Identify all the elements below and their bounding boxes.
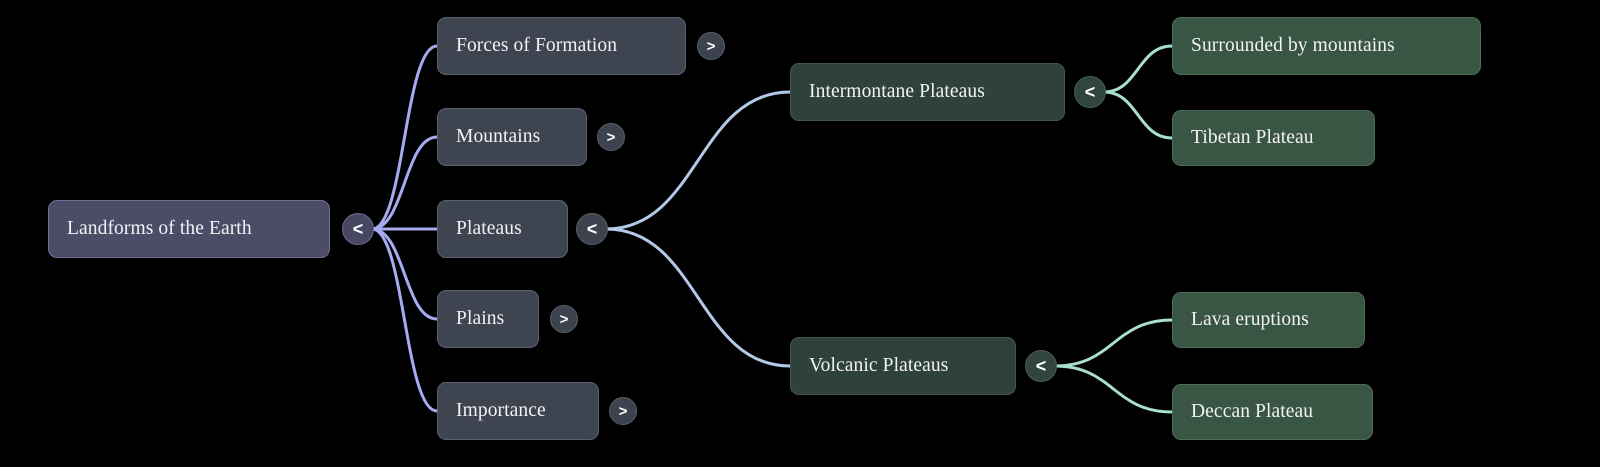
edge-plateaus-to-volcanic-plateaus <box>606 229 790 366</box>
collapse-toggle-volcanic-plateaus[interactable]: < <box>1025 350 1057 382</box>
collapse-toggle-plateaus[interactable]: < <box>576 213 608 245</box>
edge-intermontane-plateaus-to-tibetan-plateau <box>1104 92 1172 138</box>
node-level4-tibetan-plateau[interactable]: Tibetan Plateau <box>1172 110 1375 166</box>
edges-root-to-level2 <box>372 46 437 411</box>
node-level2-forces-of-formation[interactable]: Forces of Formation <box>437 17 686 75</box>
node-label: Lava eruptions <box>1191 310 1309 330</box>
node-level3-intermontane-plateaus[interactable]: Intermontane Plateaus <box>790 63 1065 121</box>
node-label: Surrounded by mountains <box>1191 36 1395 56</box>
edges-level3-to-level4 <box>1055 46 1172 412</box>
node-label: Deccan Plateau <box>1191 402 1313 422</box>
node-label: Landforms of the Earth <box>67 219 252 239</box>
collapse-toggle-root[interactable]: < <box>342 213 374 245</box>
node-level4-deccan-plateau[interactable]: Deccan Plateau <box>1172 384 1373 440</box>
edge-intermontane-plateaus-to-surrounded-by-mountains <box>1104 46 1172 92</box>
mindmap-canvas: Landforms of the Earth < Forces of Forma… <box>0 0 1600 467</box>
node-label: Importance <box>456 401 546 421</box>
collapse-toggle-forces-of-formation[interactable]: > <box>697 32 725 60</box>
edge-root-to-mountains <box>372 137 437 229</box>
edge-root-to-importance <box>372 229 437 411</box>
node-level2-mountains[interactable]: Mountains <box>437 108 587 166</box>
node-label: Plains <box>456 309 504 329</box>
collapse-toggle-plains[interactable]: > <box>550 305 578 333</box>
collapse-toggle-intermontane-plateaus[interactable]: < <box>1074 76 1106 108</box>
collapse-toggle-importance[interactable]: > <box>609 397 637 425</box>
node-level3-volcanic-plateaus[interactable]: Volcanic Plateaus <box>790 337 1016 395</box>
collapse-toggle-mountains[interactable]: > <box>597 123 625 151</box>
edge-root-to-plains <box>372 229 437 319</box>
edge-volcanic-plateaus-to-lava-eruptions <box>1055 320 1172 366</box>
node-root-landforms-of-the-earth[interactable]: Landforms of the Earth <box>48 200 330 258</box>
node-level2-plateaus[interactable]: Plateaus <box>437 200 568 258</box>
node-label: Volcanic Plateaus <box>809 356 948 376</box>
node-level4-surrounded-by-mountains[interactable]: Surrounded by mountains <box>1172 17 1481 75</box>
node-label: Intermontane Plateaus <box>809 82 985 102</box>
node-level4-lava-eruptions[interactable]: Lava eruptions <box>1172 292 1365 348</box>
node-label: Mountains <box>456 127 540 147</box>
node-level2-plains[interactable]: Plains <box>437 290 539 348</box>
node-level2-importance[interactable]: Importance <box>437 382 599 440</box>
node-label: Tibetan Plateau <box>1191 128 1314 148</box>
edge-volcanic-plateaus-to-deccan-plateau <box>1055 366 1172 412</box>
edges-plateaus-to-level3 <box>606 92 790 366</box>
node-label: Plateaus <box>456 219 522 239</box>
node-label: Forces of Formation <box>456 36 617 56</box>
edge-plateaus-to-intermontane-plateaus <box>606 92 790 229</box>
edge-root-to-forces-of-formation <box>372 46 437 229</box>
